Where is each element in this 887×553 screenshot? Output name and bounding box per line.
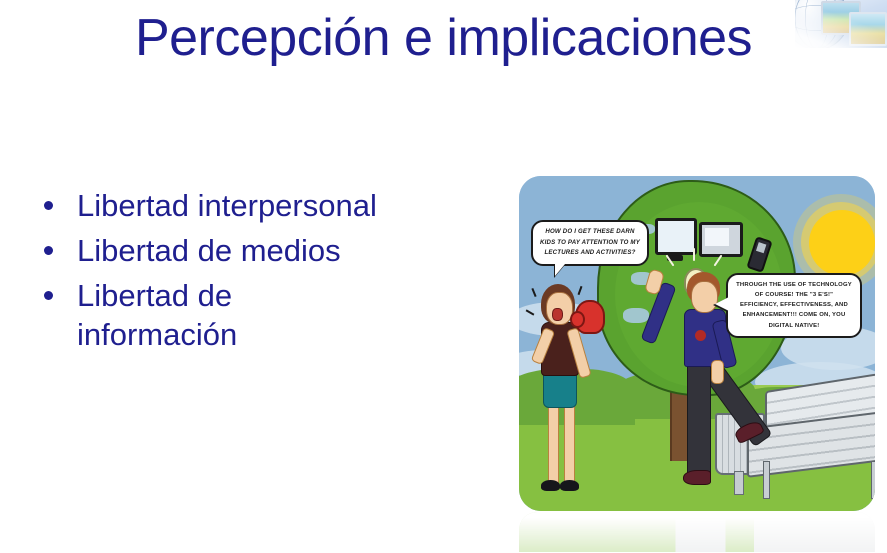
leg — [564, 404, 575, 484]
open-mouth — [552, 308, 563, 321]
image-reflection — [519, 512, 875, 552]
television-icon — [699, 222, 743, 257]
canopy-gap — [623, 308, 649, 323]
list-item: Libertad interpersonal — [38, 186, 478, 225]
hip-hand — [711, 360, 724, 384]
list-item: Libertad de medios — [38, 231, 478, 270]
teal-shorts — [543, 372, 577, 408]
leg — [548, 404, 559, 484]
bullet-text: Libertad de información — [77, 276, 237, 354]
bullet-text: Libertad de medios — [77, 231, 341, 270]
bullet-text: Libertad interpersonal — [77, 186, 377, 225]
page-title: Percepción e implicaciones — [0, 10, 887, 66]
shoe — [541, 480, 560, 491]
boxing-glove-icon — [575, 300, 605, 334]
sun-icon — [809, 210, 875, 276]
bulb-ray — [693, 248, 695, 261]
shoe — [683, 470, 711, 485]
cartoon-frame: HOW DO I GET THESE DARN KIDS TO PAY ATTE… — [519, 176, 875, 511]
cartoon-illustration: HOW DO I GET THESE DARN KIDS TO PAY ATTE… — [513, 172, 881, 553]
bullet-list: Libertad interpersonal Libertad de medio… — [38, 186, 478, 360]
bench-leg — [763, 461, 770, 499]
bullet-dot-icon — [44, 201, 53, 210]
brooch-icon — [695, 330, 706, 341]
speech-bubble-left: HOW DO I GET THESE DARN KIDS TO PAY ATTE… — [531, 220, 649, 266]
face — [691, 281, 718, 313]
shoe — [560, 480, 579, 491]
bench-leg — [871, 461, 875, 499]
bullet-dot-icon — [44, 291, 53, 300]
list-item: Libertad de información — [38, 276, 478, 354]
standing-leg — [687, 362, 711, 476]
reflection-gradient — [519, 512, 875, 552]
bullet-dot-icon — [44, 246, 53, 255]
computer-monitor-icon — [655, 218, 697, 255]
speech-bubble-right: THROUGH THE USE OF TECHNOLOGY OF COURSE!… — [726, 273, 862, 338]
